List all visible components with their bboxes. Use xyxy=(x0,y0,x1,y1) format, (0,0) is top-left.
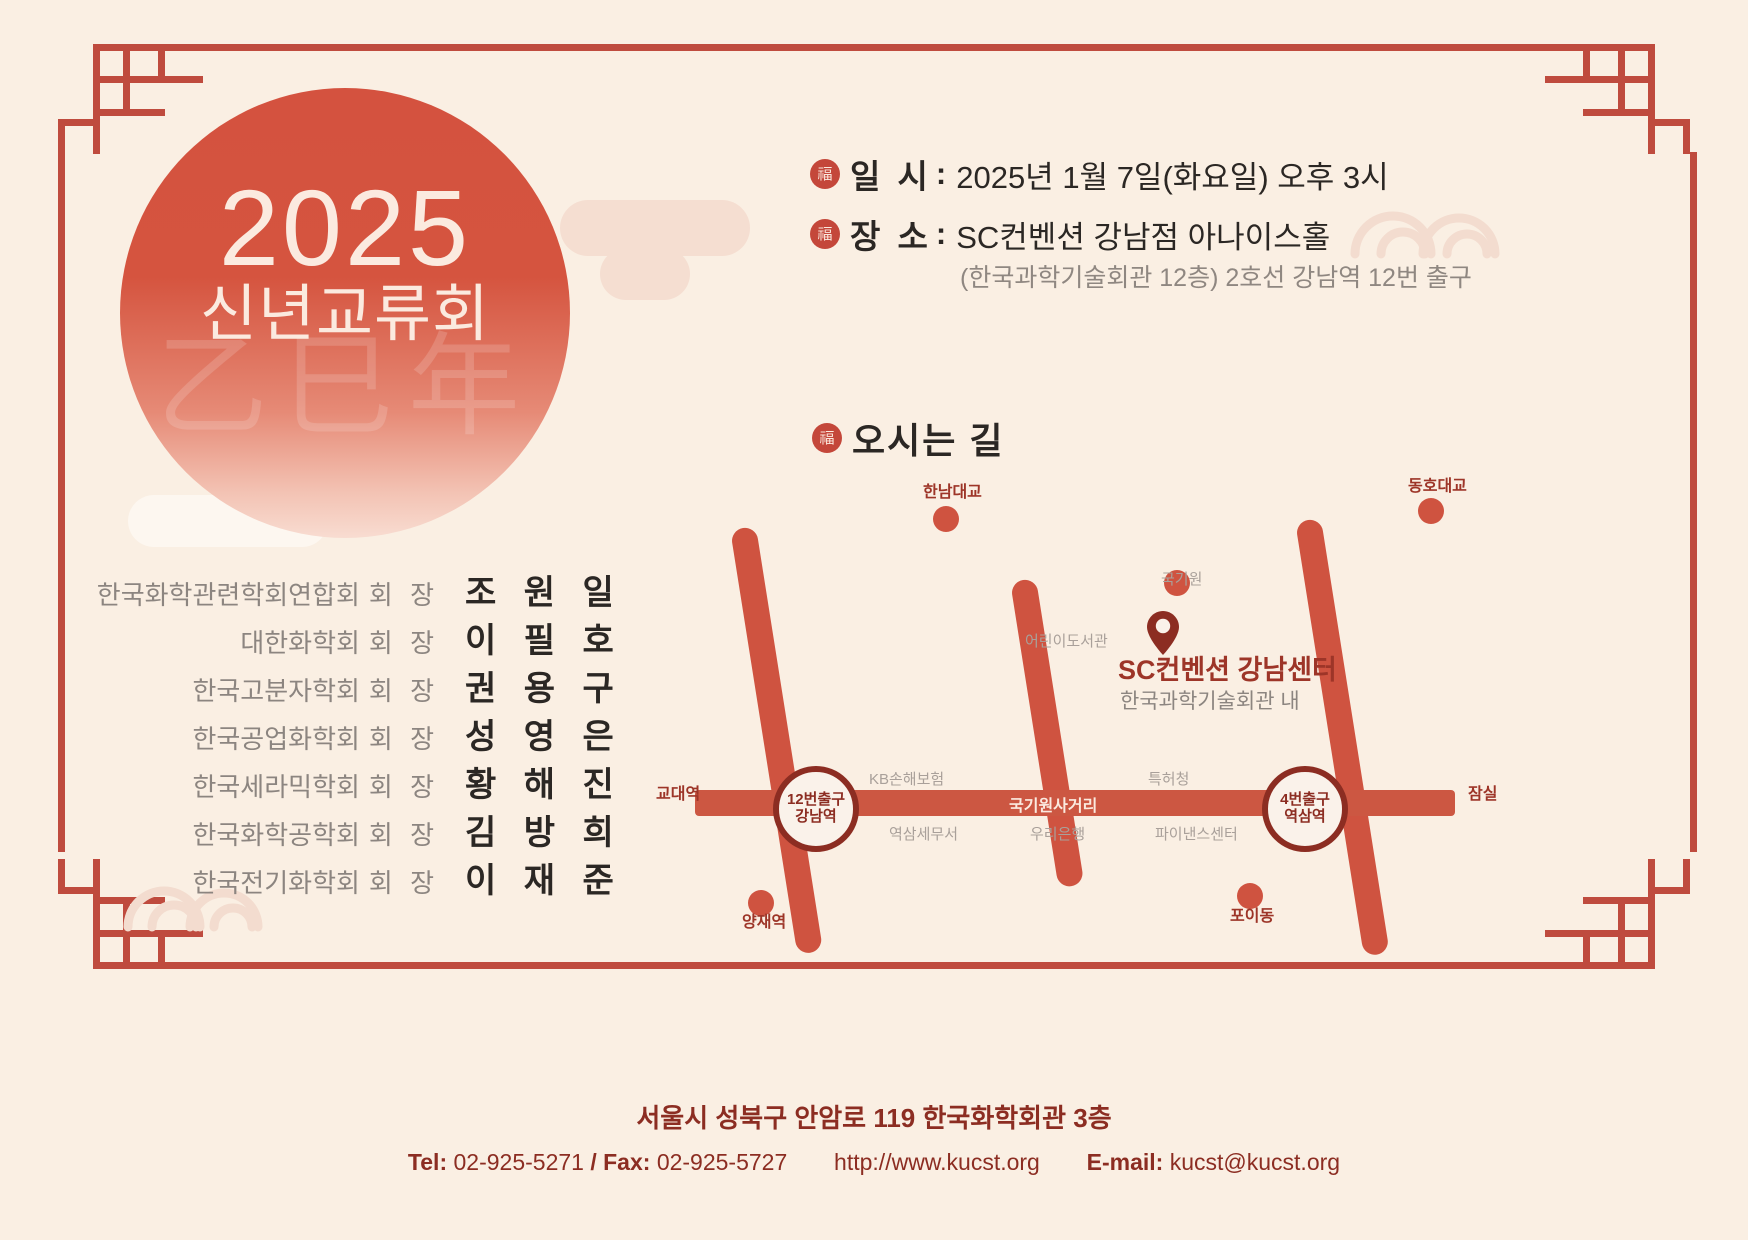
fuk-badge-icon: 福 xyxy=(810,159,840,189)
station-marker-gangnam[interactable]: 12번출구 강남역 xyxy=(773,766,859,852)
directions-heading-label: 오시는 길 xyxy=(852,412,1004,464)
date-label: 일 시 xyxy=(850,150,932,198)
frame-right xyxy=(1690,152,1697,852)
directions-heading: 福 오시는 길 xyxy=(812,412,1004,464)
roster-title: 회 장 xyxy=(369,767,439,804)
station-exit-label: 12번출구 xyxy=(787,792,845,809)
email-link[interactable]: kucst@kucst.org xyxy=(1170,1149,1340,1175)
date-colon: : xyxy=(936,156,946,192)
roster-row: 한국고분자학회 회 장 권 용 구 xyxy=(100,661,600,709)
station-name-label: 역삼역 xyxy=(1284,809,1325,826)
roster-title: 회 장 xyxy=(369,815,439,852)
station-marker-yeoksam[interactable]: 4번출구 역삼역 xyxy=(1262,766,1348,852)
hero-circle: 乙巳年 2025 신년교류회 xyxy=(120,88,570,538)
venue-subtext: (한국과학기술회관 12층) 2호선 강남역 12번 출구 xyxy=(960,258,1472,294)
event-date-row: 福 일 시 : 2025년 1월 7일(화요일) 오후 3시 xyxy=(810,150,1472,198)
map-label-donghodaegyo: 동호대교 xyxy=(1408,472,1467,496)
map-label-children-library: 어린이도서관 xyxy=(1025,630,1108,651)
map-label-finance-center: 파이낸스센터 xyxy=(1155,823,1238,844)
website-link[interactable]: http://www.kucst.org xyxy=(834,1149,1040,1175)
map-label-yangjaeyeok: 양재역 xyxy=(742,908,786,932)
footer-contact: Tel: 02-925-5271 / Fax: 02-925-5727 http… xyxy=(0,1149,1748,1176)
map-label-poidong: 포이동 xyxy=(1230,902,1274,926)
tel-value: 02-925-5271 xyxy=(454,1149,584,1175)
frame-top xyxy=(160,44,1590,51)
map-label-woori-bank: 우리은행 xyxy=(1030,823,1085,844)
email-label: E-mail: xyxy=(1087,1149,1164,1175)
frame-left xyxy=(58,152,65,852)
cloud-shape-right-lower xyxy=(600,248,690,300)
officer-roster: 한국화학관련학회연합회 회 장 조 원 일 대한화학회 회 장 이 필 호 한국… xyxy=(100,565,600,901)
location-map: 한남대교 동호대교 양재역 포이동 교대역 잠실 국기원 어린이도서관 KB손해… xyxy=(640,480,1540,950)
poi-title: SC컨벤션 강남센터 xyxy=(1118,648,1337,687)
fuk-badge-icon: 福 xyxy=(810,219,840,249)
map-label-patent-office: 특허청 xyxy=(1148,768,1189,789)
map-label-gukgiwon: 국기원 xyxy=(1161,568,1202,589)
endpoint-dot-dongho xyxy=(1418,498,1444,524)
date-value: 2025년 1월 7일(화요일) 오후 3시 xyxy=(956,152,1388,197)
endpoint-dot-hannam xyxy=(933,506,959,532)
corner-ornament-top-left xyxy=(58,44,168,154)
roster-org: 한국전기화학회 xyxy=(192,863,359,900)
roster-row: 대한화학회 회 장 이 필 호 xyxy=(100,613,600,661)
roster-title: 회 장 xyxy=(369,623,439,660)
map-label-kb-insurance: KB손해보험 xyxy=(869,768,944,789)
roster-org: 한국세라믹학회 xyxy=(192,767,359,804)
poi-subtitle: 한국과학기술회관 내 xyxy=(1120,685,1300,715)
fax-value: 02-925-5727 xyxy=(657,1149,787,1175)
roster-title: 회 장 xyxy=(369,719,439,756)
roster-name: 황 해 진 xyxy=(465,757,600,806)
venue-label: 장 소 xyxy=(850,210,932,258)
map-label-yeoksam-tax-office: 역삼세무서 xyxy=(889,823,958,844)
roster-row: 한국공업화학회 회 장 성 영 은 xyxy=(100,709,600,757)
tel-label: Tel: xyxy=(408,1149,447,1175)
map-label-gukgiwon-intersection: 국기원사거리 xyxy=(1009,792,1097,816)
roster-title: 회 장 xyxy=(369,575,439,612)
poster-canvas: 乙巳年 2025 신년교류회 福 일 시 : 2025년 1월 7일(화요일) … xyxy=(0,0,1748,1240)
footer-address: 서울시 성북구 안암로 119 한국화학회관 3층 xyxy=(0,1098,1748,1135)
fax-label: Fax: xyxy=(603,1149,650,1175)
corner-ornament-top-right xyxy=(1580,44,1690,154)
roster-name: 성 영 은 xyxy=(465,709,600,758)
road-hannam-yangjae xyxy=(730,526,823,955)
map-label-hannamdaegyo: 한남대교 xyxy=(923,478,982,502)
roster-org: 한국화학공학회 xyxy=(192,815,359,852)
roster-row: 한국전기화학회 회 장 이 재 준 xyxy=(100,853,600,901)
venue-colon: : xyxy=(936,216,946,252)
roster-name: 이 필 호 xyxy=(465,613,600,662)
roster-title: 회 장 xyxy=(369,671,439,708)
roster-name: 조 원 일 xyxy=(465,565,600,614)
hero-year: 2025 xyxy=(120,174,570,282)
roster-row: 한국화학관련학회연합회 회 장 조 원 일 xyxy=(100,565,600,613)
venue-value: SC컨벤션 강남점 아나이스홀 xyxy=(956,212,1330,257)
station-exit-label: 4번출구 xyxy=(1280,792,1330,809)
roster-name: 이 재 준 xyxy=(465,853,600,902)
map-label-jamsil: 잠실 xyxy=(1468,780,1497,804)
event-info-block: 福 일 시 : 2025년 1월 7일(화요일) 오후 3시 福 장 소 : S… xyxy=(810,150,1472,294)
roster-row: 한국화학공학회 회 장 김 방 희 xyxy=(100,805,600,853)
roster-org: 한국고분자학회 xyxy=(192,671,359,708)
footer: 서울시 성북구 안암로 119 한국화학회관 3층 Tel: 02-925-52… xyxy=(0,1098,1748,1176)
separator-slash: / xyxy=(590,1149,596,1175)
frame-bottom xyxy=(160,962,1590,969)
roster-row: 한국세라믹학회 회 장 황 해 진 xyxy=(100,757,600,805)
roster-org: 대한화학회 xyxy=(240,623,360,660)
event-venue-row: 福 장 소 : SC컨벤션 강남점 아나이스홀 xyxy=(810,210,1472,258)
roster-org: 한국화학관련학회연합회 xyxy=(97,575,360,612)
station-name-label: 강남역 xyxy=(795,809,836,826)
roster-org: 한국공업화학회 xyxy=(192,719,359,756)
corner-ornament-bottom-right xyxy=(1580,859,1690,969)
roster-name: 김 방 희 xyxy=(465,805,600,854)
roster-name: 권 용 구 xyxy=(465,661,600,710)
map-label-gyodaeyeok: 교대역 xyxy=(656,780,700,804)
roster-title: 회 장 xyxy=(369,863,439,900)
road-dongho-poidong xyxy=(1295,518,1390,957)
hero-title: 신년교류회 xyxy=(120,284,570,346)
fuk-badge-icon: 福 xyxy=(812,423,842,453)
